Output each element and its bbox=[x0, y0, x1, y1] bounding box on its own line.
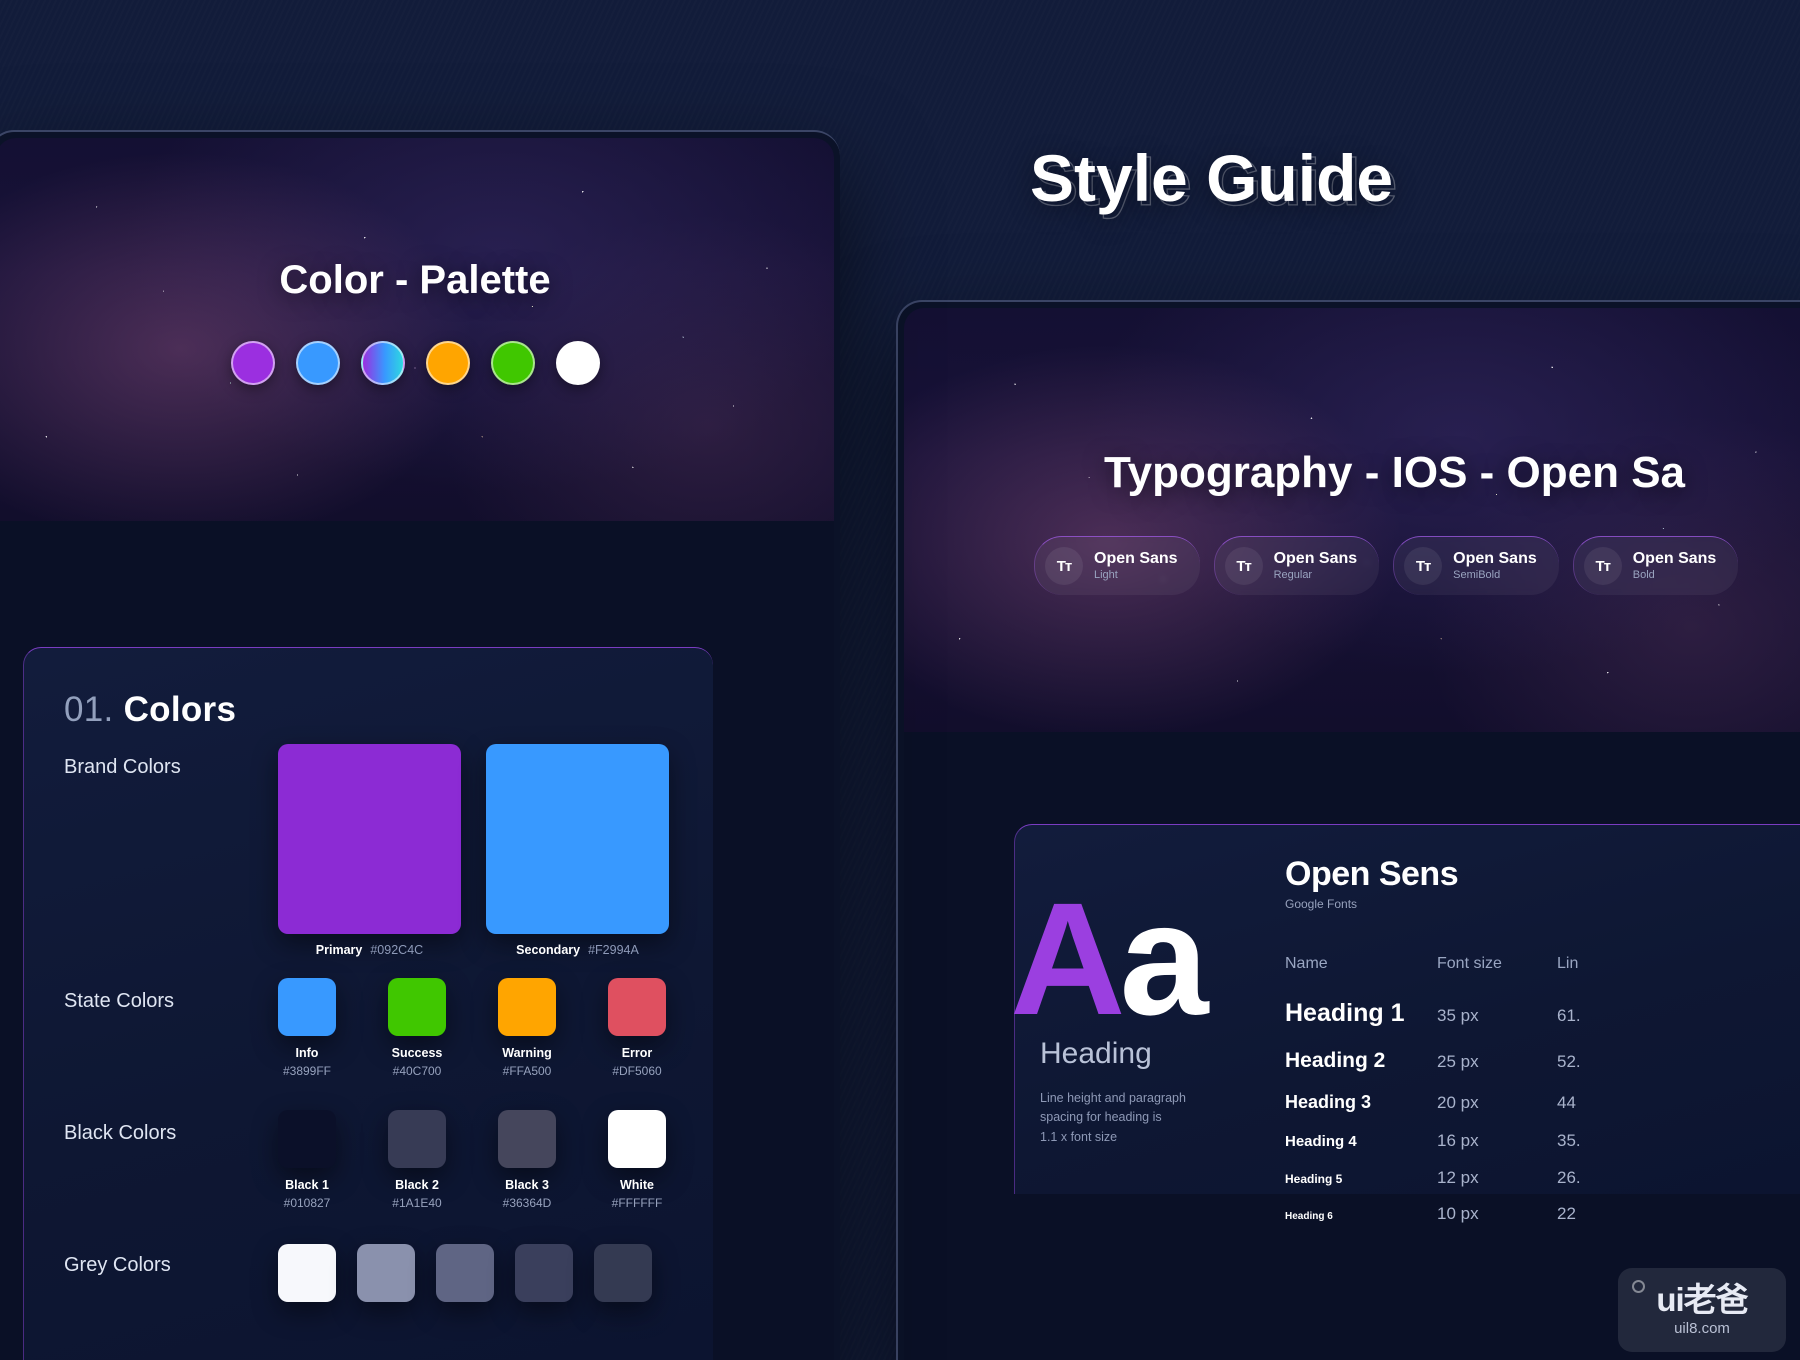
screen-color-palette: Color - Palette 01. Colors Brand Colors bbox=[0, 138, 834, 1360]
swatch-chip[interactable] bbox=[278, 1110, 336, 1168]
swatch-chip[interactable] bbox=[608, 978, 666, 1036]
palette-hero: Color - Palette bbox=[0, 138, 834, 521]
table-row: Heading 1 35 px 61. bbox=[1285, 999, 1647, 1028]
heading-demo-text: Heading bbox=[1040, 1037, 1152, 1071]
typeface-subtitle: Google Fonts bbox=[1285, 897, 1647, 911]
font-chip-list: Tт Open Sans Light Tт Open Sans Regular … bbox=[904, 536, 1800, 595]
colors-card: 01. Colors Brand Colors Primary#092C4C S… bbox=[23, 647, 713, 1360]
font-chip-family: Open Sans bbox=[1274, 550, 1358, 568]
screen-typography: Typography - IOS - Open Sa Tт Open Sans … bbox=[904, 308, 1800, 1360]
palette-dot-blue[interactable] bbox=[296, 341, 340, 385]
type-name: Heading 5 bbox=[1285, 1172, 1437, 1186]
palette-dot-white[interactable] bbox=[556, 341, 600, 385]
swatch-caption: Primary#092C4C bbox=[278, 943, 461, 957]
typeface-icon: Tт bbox=[1584, 547, 1622, 585]
swatch-hex: #FFA500 bbox=[498, 1064, 556, 1078]
col-header-name: Name bbox=[1285, 955, 1437, 973]
row-label-grey-colors: Grey Colors bbox=[64, 1254, 171, 1277]
grey-swatch-row bbox=[278, 1244, 652, 1302]
font-chip-family: Open Sans bbox=[1453, 550, 1537, 568]
swatch-chip[interactable] bbox=[498, 1110, 556, 1168]
typeface-icon: Tт bbox=[1045, 547, 1083, 585]
swatch-name: Error bbox=[608, 1046, 666, 1060]
row-label-black-colors: Black Colors bbox=[64, 1122, 176, 1145]
swatch-primary[interactable]: Primary#092C4C bbox=[278, 744, 461, 957]
swatch-hex: #1A1E40 bbox=[388, 1196, 446, 1210]
swatch-grey-5[interactable] bbox=[594, 1244, 652, 1302]
col-header-lineheight: Lin bbox=[1557, 955, 1647, 973]
typeface-title: Open Sens bbox=[1285, 855, 1647, 894]
typography-hero-title: Typography - IOS - Open Sa bbox=[904, 448, 1800, 498]
palette-dot-row bbox=[0, 341, 834, 385]
table-row: Heading 4 16 px 35. bbox=[1285, 1131, 1647, 1151]
swatch-hex: #010827 bbox=[278, 1196, 336, 1210]
swatch-name: Black 1 bbox=[278, 1178, 336, 1192]
swatch-warning[interactable]: Warning #FFA500 bbox=[498, 978, 556, 1078]
font-chip-weight: SemiBold bbox=[1453, 569, 1537, 582]
typeface-icon: Tт bbox=[1225, 547, 1263, 585]
swatch-error[interactable]: Error #DF5060 bbox=[608, 978, 666, 1078]
swatch-chip[interactable] bbox=[278, 744, 461, 934]
type-lineheight: 52. bbox=[1557, 1052, 1647, 1072]
font-chip-weight: Bold bbox=[1633, 569, 1717, 582]
row-label-state-colors: State Colors bbox=[64, 990, 174, 1013]
font-chip-weight: Regular bbox=[1274, 569, 1358, 582]
swatch-black-3[interactable]: Black 3 #36364D bbox=[498, 1110, 556, 1210]
type-name: Heading 3 bbox=[1285, 1092, 1437, 1113]
type-size: 16 px bbox=[1437, 1131, 1557, 1151]
specimen-lowercase: a bbox=[1120, 869, 1203, 1048]
type-lineheight: 26. bbox=[1557, 1168, 1647, 1188]
type-lineheight: 44 bbox=[1557, 1093, 1647, 1113]
black-swatch-row: Black 1 #010827 Black 2 #1A1E40 Black 3 … bbox=[278, 1110, 666, 1210]
swatch-white[interactable]: White #FFFFFF bbox=[608, 1110, 666, 1210]
brand-swatch-row: Primary#092C4C Secondary#F2994A bbox=[278, 744, 669, 957]
type-name: Heading 1 bbox=[1285, 999, 1437, 1028]
font-chip-family: Open Sans bbox=[1094, 550, 1178, 568]
type-size: 20 px bbox=[1437, 1093, 1557, 1113]
font-chip-light[interactable]: Tт Open Sans Light bbox=[1034, 536, 1200, 595]
swatch-black-2[interactable]: Black 2 #1A1E40 bbox=[388, 1110, 446, 1210]
swatch-info[interactable]: Info #3899FF bbox=[278, 978, 336, 1078]
heading-note: Line height and paragraph spacing for he… bbox=[1040, 1089, 1186, 1147]
swatch-grey-4[interactable] bbox=[515, 1244, 573, 1302]
typeface-icon: Tт bbox=[1404, 547, 1442, 585]
swatch-name: Success bbox=[388, 1046, 446, 1060]
font-chip-family: Open Sans bbox=[1633, 550, 1717, 568]
swatch-name: Warning bbox=[498, 1046, 556, 1060]
type-name: Heading 4 bbox=[1285, 1133, 1437, 1150]
type-name: Heading 6 bbox=[1285, 1211, 1437, 1222]
swatch-chip[interactable] bbox=[608, 1110, 666, 1168]
palette-dot-green[interactable] bbox=[491, 341, 535, 385]
swatch-chip[interactable] bbox=[278, 978, 336, 1036]
swatch-name: Secondary bbox=[516, 943, 580, 957]
swatch-hex: #40C700 bbox=[388, 1064, 446, 1078]
typeface-card: Aa Heading Line height and paragraph spa… bbox=[1014, 824, 1800, 1194]
type-lineheight: 22 bbox=[1557, 1204, 1647, 1224]
col-header-fontsize: Font size bbox=[1437, 955, 1557, 973]
swatch-hex: #F2994A bbox=[588, 943, 639, 957]
swatch-hex: #092C4C bbox=[370, 943, 423, 957]
device-frame-left: Color - Palette 01. Colors Brand Colors bbox=[0, 130, 840, 1360]
row-label-brand-colors: Brand Colors bbox=[64, 756, 181, 779]
swatch-black-1[interactable]: Black 1 #010827 bbox=[278, 1110, 336, 1210]
palette-hero-title: Color - Palette bbox=[0, 138, 834, 303]
swatch-name: Info bbox=[278, 1046, 336, 1060]
swatch-secondary[interactable]: Secondary#F2994A bbox=[486, 744, 669, 957]
table-row: Heading 5 12 px 26. bbox=[1285, 1168, 1647, 1188]
swatch-name: Primary bbox=[316, 943, 363, 957]
type-size: 25 px bbox=[1437, 1052, 1557, 1072]
page-section-title: 01. Colors bbox=[64, 690, 236, 730]
swatch-grey-3[interactable] bbox=[436, 1244, 494, 1302]
font-chip-weight: Light bbox=[1094, 569, 1178, 582]
font-chip-regular[interactable]: Tт Open Sans Regular bbox=[1214, 536, 1380, 595]
page-title-fill: Style Guide bbox=[1030, 140, 1393, 216]
swatch-name: White bbox=[608, 1178, 666, 1192]
type-size: 35 px bbox=[1437, 1006, 1557, 1026]
swatch-chip[interactable] bbox=[498, 978, 556, 1036]
palette-dot-orange[interactable] bbox=[426, 341, 470, 385]
swatch-name: Black 3 bbox=[498, 1178, 556, 1192]
font-chip-semibold[interactable]: Tт Open Sans SemiBold bbox=[1393, 536, 1559, 595]
swatch-grey-1[interactable] bbox=[278, 1244, 336, 1302]
swatch-chip[interactable] bbox=[388, 978, 446, 1036]
type-scale-table-header: Name Font size Lin bbox=[1285, 955, 1647, 973]
swatch-hex: #FFFFFF bbox=[608, 1196, 666, 1210]
stars-decoration bbox=[904, 308, 1800, 732]
font-chip-bold[interactable]: Tт Open Sans Bold bbox=[1573, 536, 1739, 595]
swatch-chip[interactable] bbox=[388, 1110, 446, 1168]
watermark-url: uil8.com bbox=[1674, 1320, 1730, 1337]
page-title: Style Guide Style Guide bbox=[1030, 140, 1430, 220]
watermark-logo: ui老爸 bbox=[1656, 1283, 1747, 1316]
state-swatch-row: Info #3899FF Success #40C700 Warning #FF… bbox=[278, 978, 666, 1078]
watermark: ui老爸 uil8.com bbox=[1618, 1268, 1786, 1352]
swatch-chip[interactable] bbox=[486, 744, 669, 934]
type-name: Heading 2 bbox=[1285, 1049, 1437, 1073]
specimen-uppercase: A bbox=[1010, 869, 1120, 1048]
type-lineheight: 61. bbox=[1557, 1006, 1647, 1026]
swatch-grey-2[interactable] bbox=[357, 1244, 415, 1302]
type-lineheight: 35. bbox=[1557, 1131, 1647, 1151]
swatch-caption: Secondary#F2994A bbox=[486, 943, 669, 957]
table-row: Heading 2 25 px 52. bbox=[1285, 1049, 1647, 1073]
typography-hero: Typography - IOS - Open Sa Tт Open Sans … bbox=[904, 308, 1800, 732]
section-name: Colors bbox=[124, 690, 237, 729]
swatch-name: Black 2 bbox=[388, 1178, 446, 1192]
typeface-specimen: Aa bbox=[1010, 887, 1203, 1031]
section-number: 01. bbox=[64, 690, 114, 729]
device-frame-right: Typography - IOS - Open Sa Tт Open Sans … bbox=[896, 300, 1800, 1360]
type-size: 12 px bbox=[1437, 1168, 1557, 1188]
table-row: Heading 6 10 px 22 bbox=[1285, 1204, 1647, 1224]
table-row: Heading 3 20 px 44 bbox=[1285, 1092, 1647, 1113]
palette-dot-gradient[interactable] bbox=[361, 341, 405, 385]
swatch-hex: #3899FF bbox=[278, 1064, 336, 1078]
type-size: 10 px bbox=[1437, 1204, 1557, 1224]
swatch-hex: #36364D bbox=[498, 1196, 556, 1210]
swatch-success[interactable]: Success #40C700 bbox=[388, 978, 446, 1078]
palette-dot-purple[interactable] bbox=[231, 341, 275, 385]
swatch-hex: #DF5060 bbox=[608, 1064, 666, 1078]
watermark-hole-icon bbox=[1632, 1280, 1645, 1293]
